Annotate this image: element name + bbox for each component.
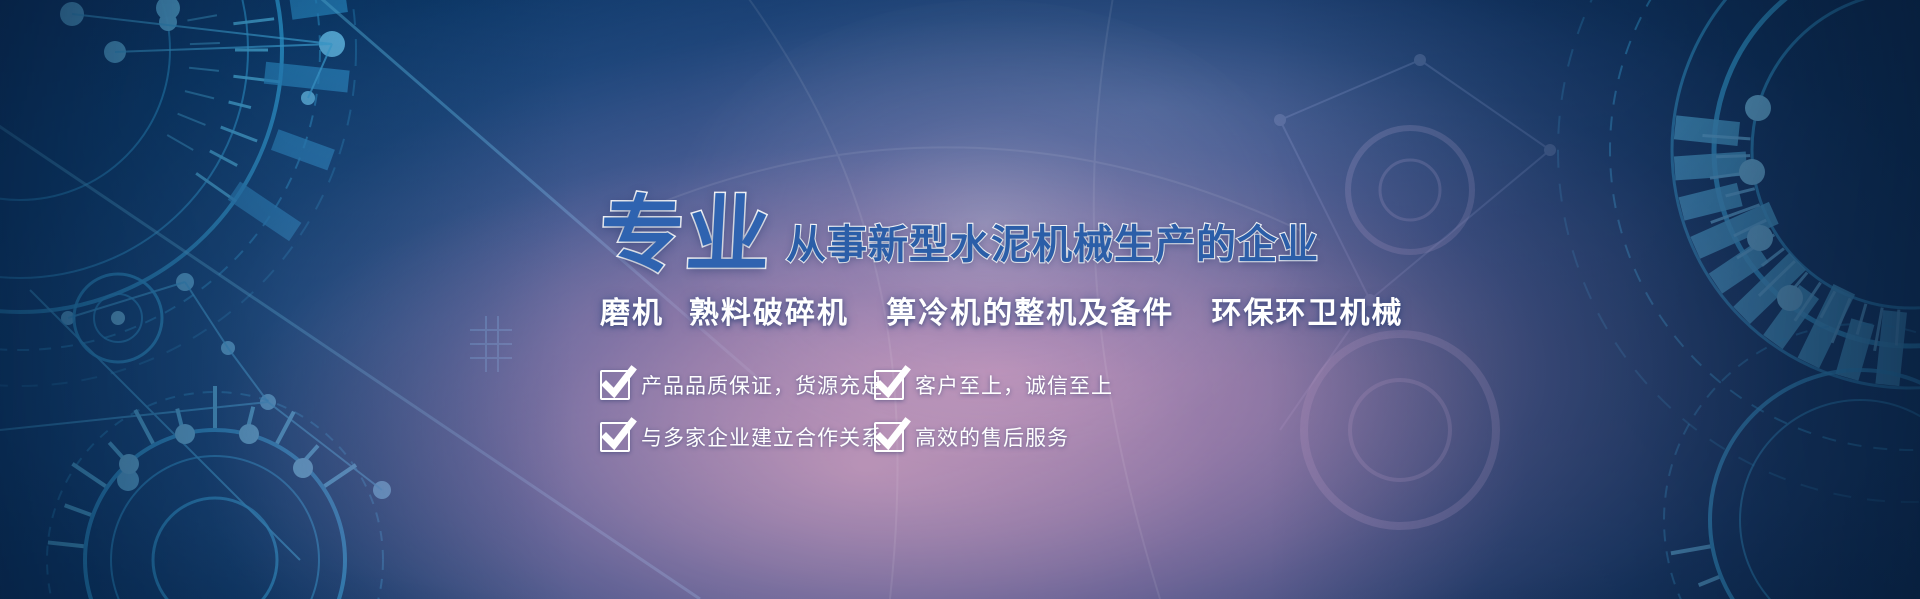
feature-row: 产品品质保证，货源充足 客户至上，诚信至上 [600, 370, 1160, 400]
checkmark-icon [874, 370, 904, 400]
banner-content: 专业 从事新型水泥机械生产的企业 磨机 熟料破碎机 箅冷机的整机及备件 环保环卫… [0, 0, 1920, 599]
feature-label: 产品品质保证，货源充足 [641, 370, 883, 400]
feature-item: 高效的售后服务 [874, 422, 1069, 452]
feature-label: 高效的售后服务 [915, 422, 1069, 452]
headline-emphasis: 专业 [598, 196, 788, 276]
feature-label: 客户至上，诚信至上 [915, 370, 1113, 400]
checkmark-icon [874, 422, 904, 452]
feature-row: 与多家企业建立合作关系 高效的售后服务 [600, 422, 1160, 452]
feature-item: 与多家企业建立合作关系 [600, 422, 840, 452]
product-line: 磨机 熟料破碎机 箅冷机的整机及备件 环保环卫机械 [600, 288, 1404, 332]
headline: 专业 从事新型水泥机械生产的企业 [600, 196, 1319, 276]
checkmark-icon [600, 370, 630, 400]
checkmark-icon [600, 422, 630, 452]
feature-list: 产品品质保证，货源充足 客户至上，诚信至上 与多家企业建立合作关系 [600, 348, 1160, 452]
headline-rest: 从事新型水泥机械生产的企业 [786, 212, 1319, 270]
feature-label: 与多家企业建立合作关系 [641, 422, 883, 452]
feature-item: 产品品质保证，货源充足 [600, 370, 840, 400]
feature-item: 客户至上，诚信至上 [874, 370, 1113, 400]
hero-banner: 专业 从事新型水泥机械生产的企业 磨机 熟料破碎机 箅冷机的整机及备件 环保环卫… [0, 0, 1920, 599]
